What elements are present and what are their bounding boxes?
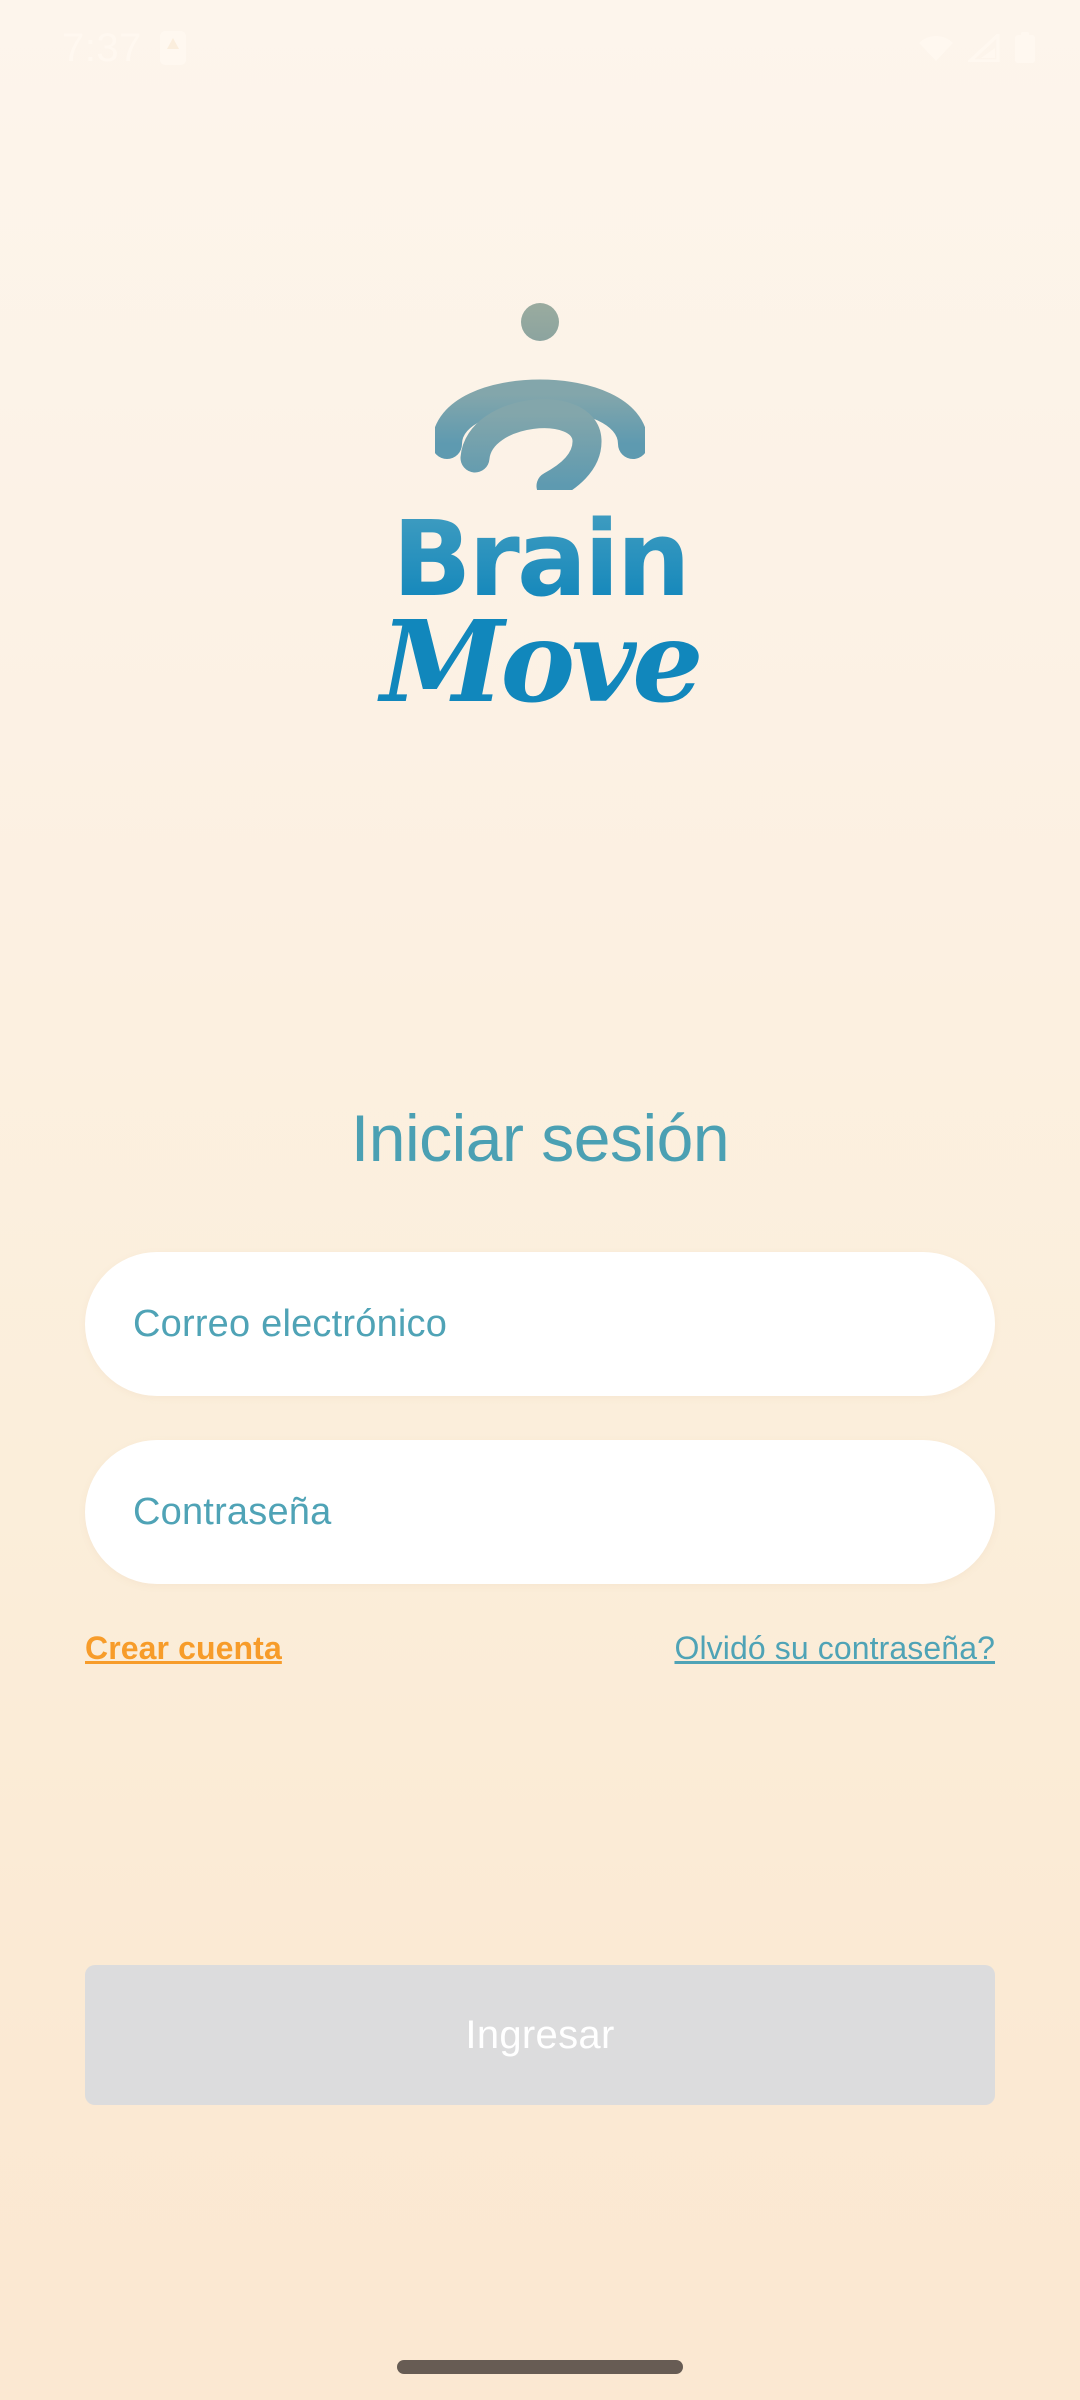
- auth-links-row: Crear cuenta Olvidó su contraseña?: [85, 1630, 995, 1667]
- cellular-signal-icon: [968, 34, 1000, 62]
- brainmove-figure-logo: [435, 300, 645, 490]
- logo-head-circle: [521, 303, 559, 341]
- page-title: Iniciar sesión: [0, 1100, 1080, 1176]
- battery-full-icon: [1014, 32, 1036, 64]
- logo-inner-swoosh: [475, 414, 587, 486]
- wifi-icon: [918, 34, 954, 62]
- notification-app-icon: [160, 31, 186, 65]
- email-field[interactable]: Correo electrónico: [85, 1252, 995, 1396]
- status-bar-left: 7:37: [62, 26, 186, 71]
- password-field[interactable]: Contraseña: [85, 1440, 995, 1584]
- brand-logo-block: Brain Move: [0, 300, 1080, 716]
- status-bar-right: [918, 32, 1036, 64]
- email-field-placeholder: Correo electrónico: [133, 1303, 447, 1346]
- login-submit-button[interactable]: Ingresar: [85, 1965, 995, 2105]
- status-bar: 7:37: [0, 0, 1080, 96]
- password-field-placeholder: Contraseña: [133, 1491, 331, 1534]
- forgot-password-link[interactable]: Olvidó su contraseña?: [674, 1630, 995, 1667]
- brand-wordmark: Brain Move: [380, 512, 699, 716]
- wordmark-brain: Brain: [392, 512, 687, 608]
- status-bar-clock: 7:37: [62, 26, 142, 71]
- gesture-home-indicator[interactable]: [397, 2360, 683, 2374]
- wordmark-move: Move: [380, 610, 699, 716]
- create-account-link[interactable]: Crear cuenta: [85, 1630, 282, 1667]
